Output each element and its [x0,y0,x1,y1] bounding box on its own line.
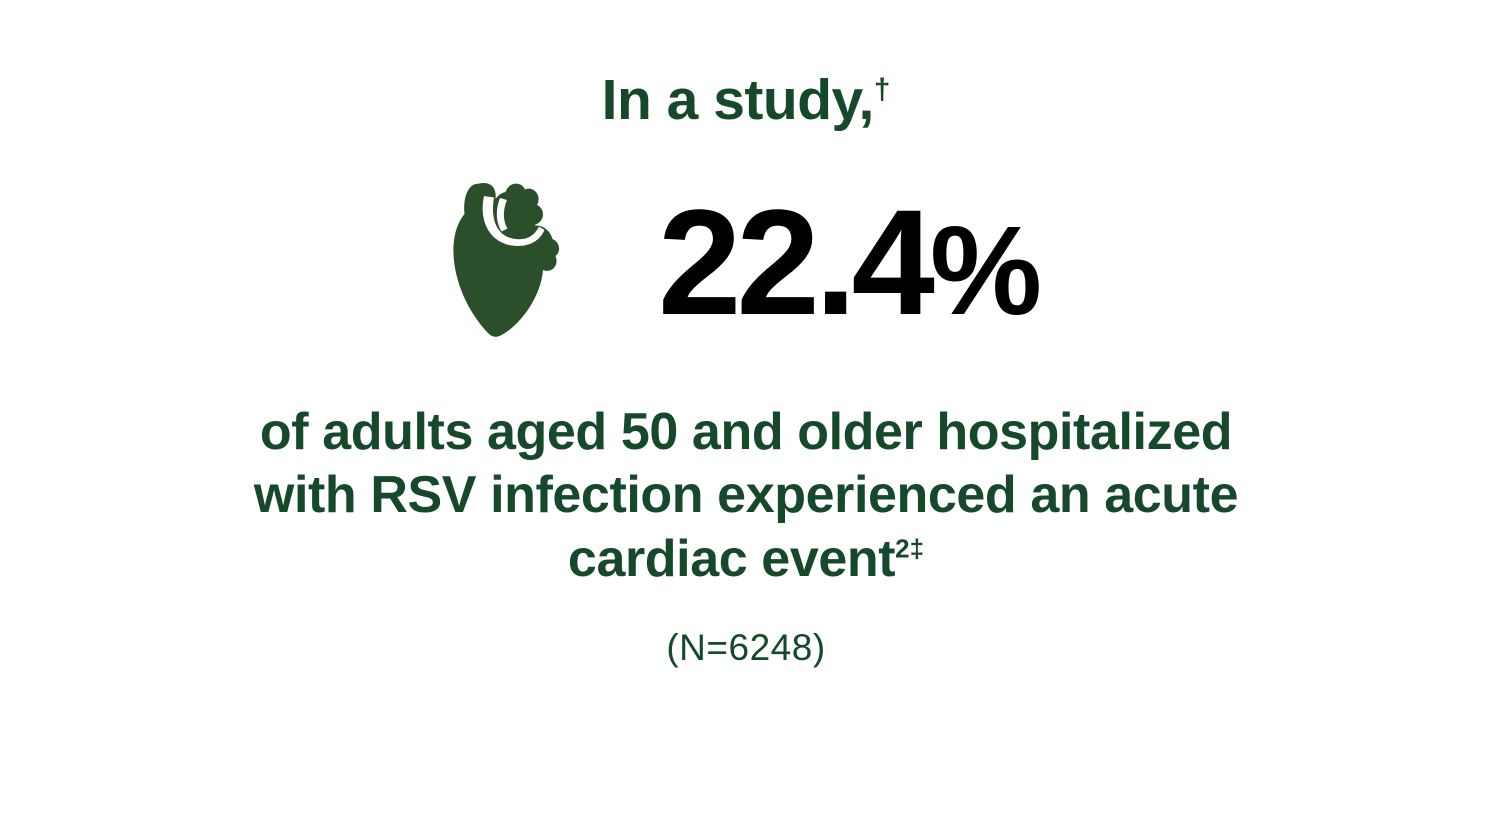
stat-number: 22.4 [658,178,930,346]
statement-line-2: with RSV infection experienced an acute [111,464,1381,527]
anatomical-heart-icon [452,180,570,340]
statement-line-3-text: cardiac event [568,530,895,588]
sample-size-footnote: (N=6248) [666,629,825,666]
headline-footnote-marker: † [874,73,890,106]
stat-value: 22.4% [658,187,1040,337]
statement-line-3: cardiac event2‡ [111,528,1381,591]
rsv-cardiac-event-infographic: In a study,† 22.4% of adults aged 50 and… [0,0,1492,840]
statement-line-1: of adults aged 50 and older hospitalized [111,401,1381,464]
headline-text: In a study, [602,68,874,132]
headline: In a study,† [602,72,891,129]
statement: of adults aged 50 and older hospitalized… [111,401,1381,591]
stat-percent-sign: % [930,200,1040,341]
stat-row: 22.4% [452,175,1040,345]
statement-reference-marker: 2‡ [895,534,924,564]
